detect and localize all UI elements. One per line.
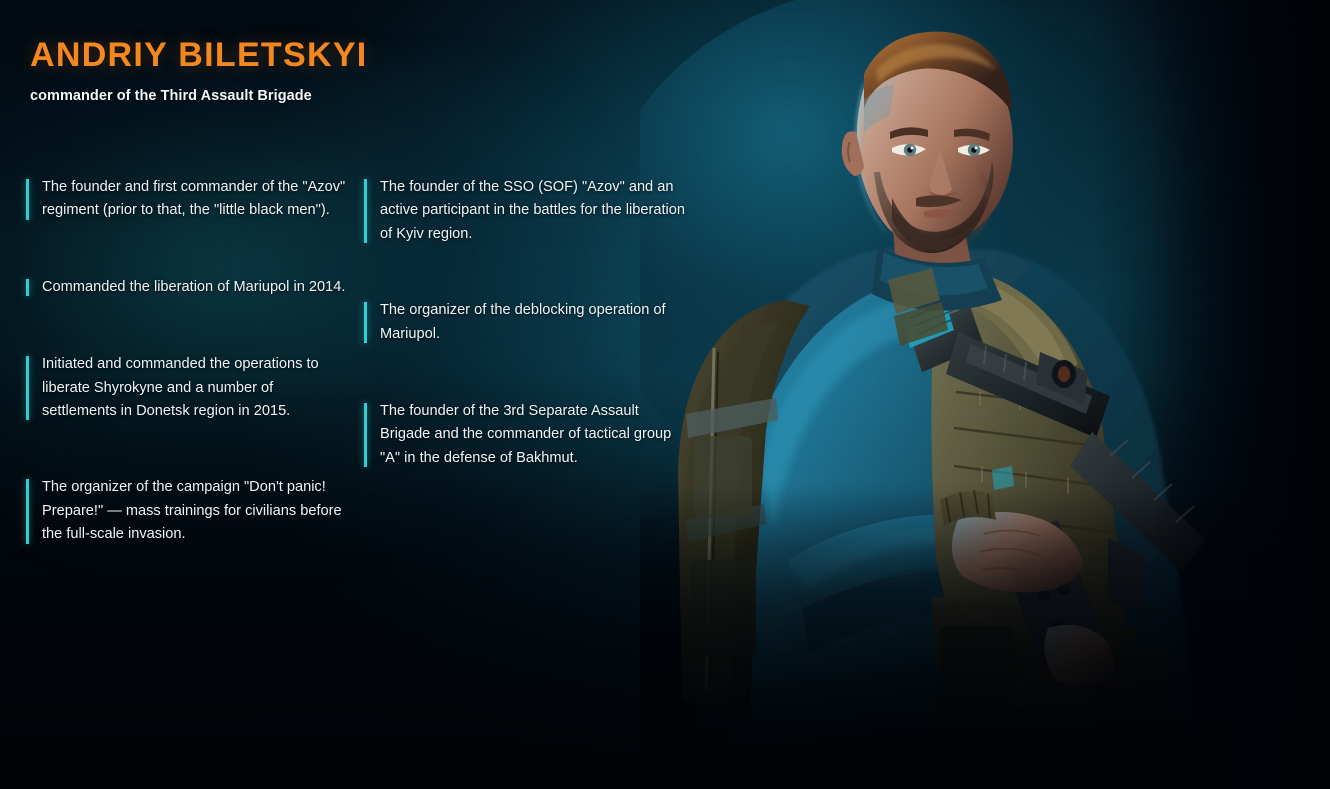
- fact-text: The founder of the 3rd Separate Assault …: [380, 400, 686, 470]
- fact-text: The founder of the SSO (SOF) "Azov" and …: [380, 176, 686, 246]
- fact-text: Commanded the liberation of Mariupol in …: [42, 276, 348, 299]
- fact-item: The founder of the SSO (SOF) "Azov" and …: [364, 176, 686, 246]
- poster-root: ANDRIY BILETSKYI commander of the Third …: [0, 0, 1330, 789]
- page-subtitle: commander of the Third Assault Brigade: [30, 88, 368, 104]
- page-title: ANDRIY BILETSKYI: [30, 38, 368, 74]
- fact-item: Commanded the liberation of Mariupol in …: [26, 276, 348, 299]
- fact-text: The founder and first commander of the "…: [42, 176, 348, 223]
- facts-container: The founder and first commander of the "…: [26, 176, 686, 600]
- fact-item: The organizer of the campaign "Don't pan…: [26, 476, 348, 546]
- fact-item: The founder and first commander of the "…: [26, 176, 348, 223]
- soldier-portrait-image: [640, 0, 1330, 789]
- facts-column-right: The founder of the SSO (SOF) "Azov" and …: [364, 176, 686, 600]
- fact-text: The organizer of the campaign "Don't pan…: [42, 476, 348, 546]
- header-block: ANDRIY BILETSKYI commander of the Third …: [30, 38, 368, 104]
- fact-text: Initiated and commanded the operations t…: [42, 353, 348, 423]
- facts-column-left: The founder and first commander of the "…: [26, 176, 348, 600]
- fact-item: The organizer of the deblocking operatio…: [364, 299, 686, 346]
- fact-item: The founder of the 3rd Separate Assault …: [364, 400, 686, 470]
- fact-text: The organizer of the deblocking operatio…: [380, 299, 686, 346]
- fact-item: Initiated and commanded the operations t…: [26, 353, 348, 423]
- soldier-portrait-svg: [640, 0, 1330, 789]
